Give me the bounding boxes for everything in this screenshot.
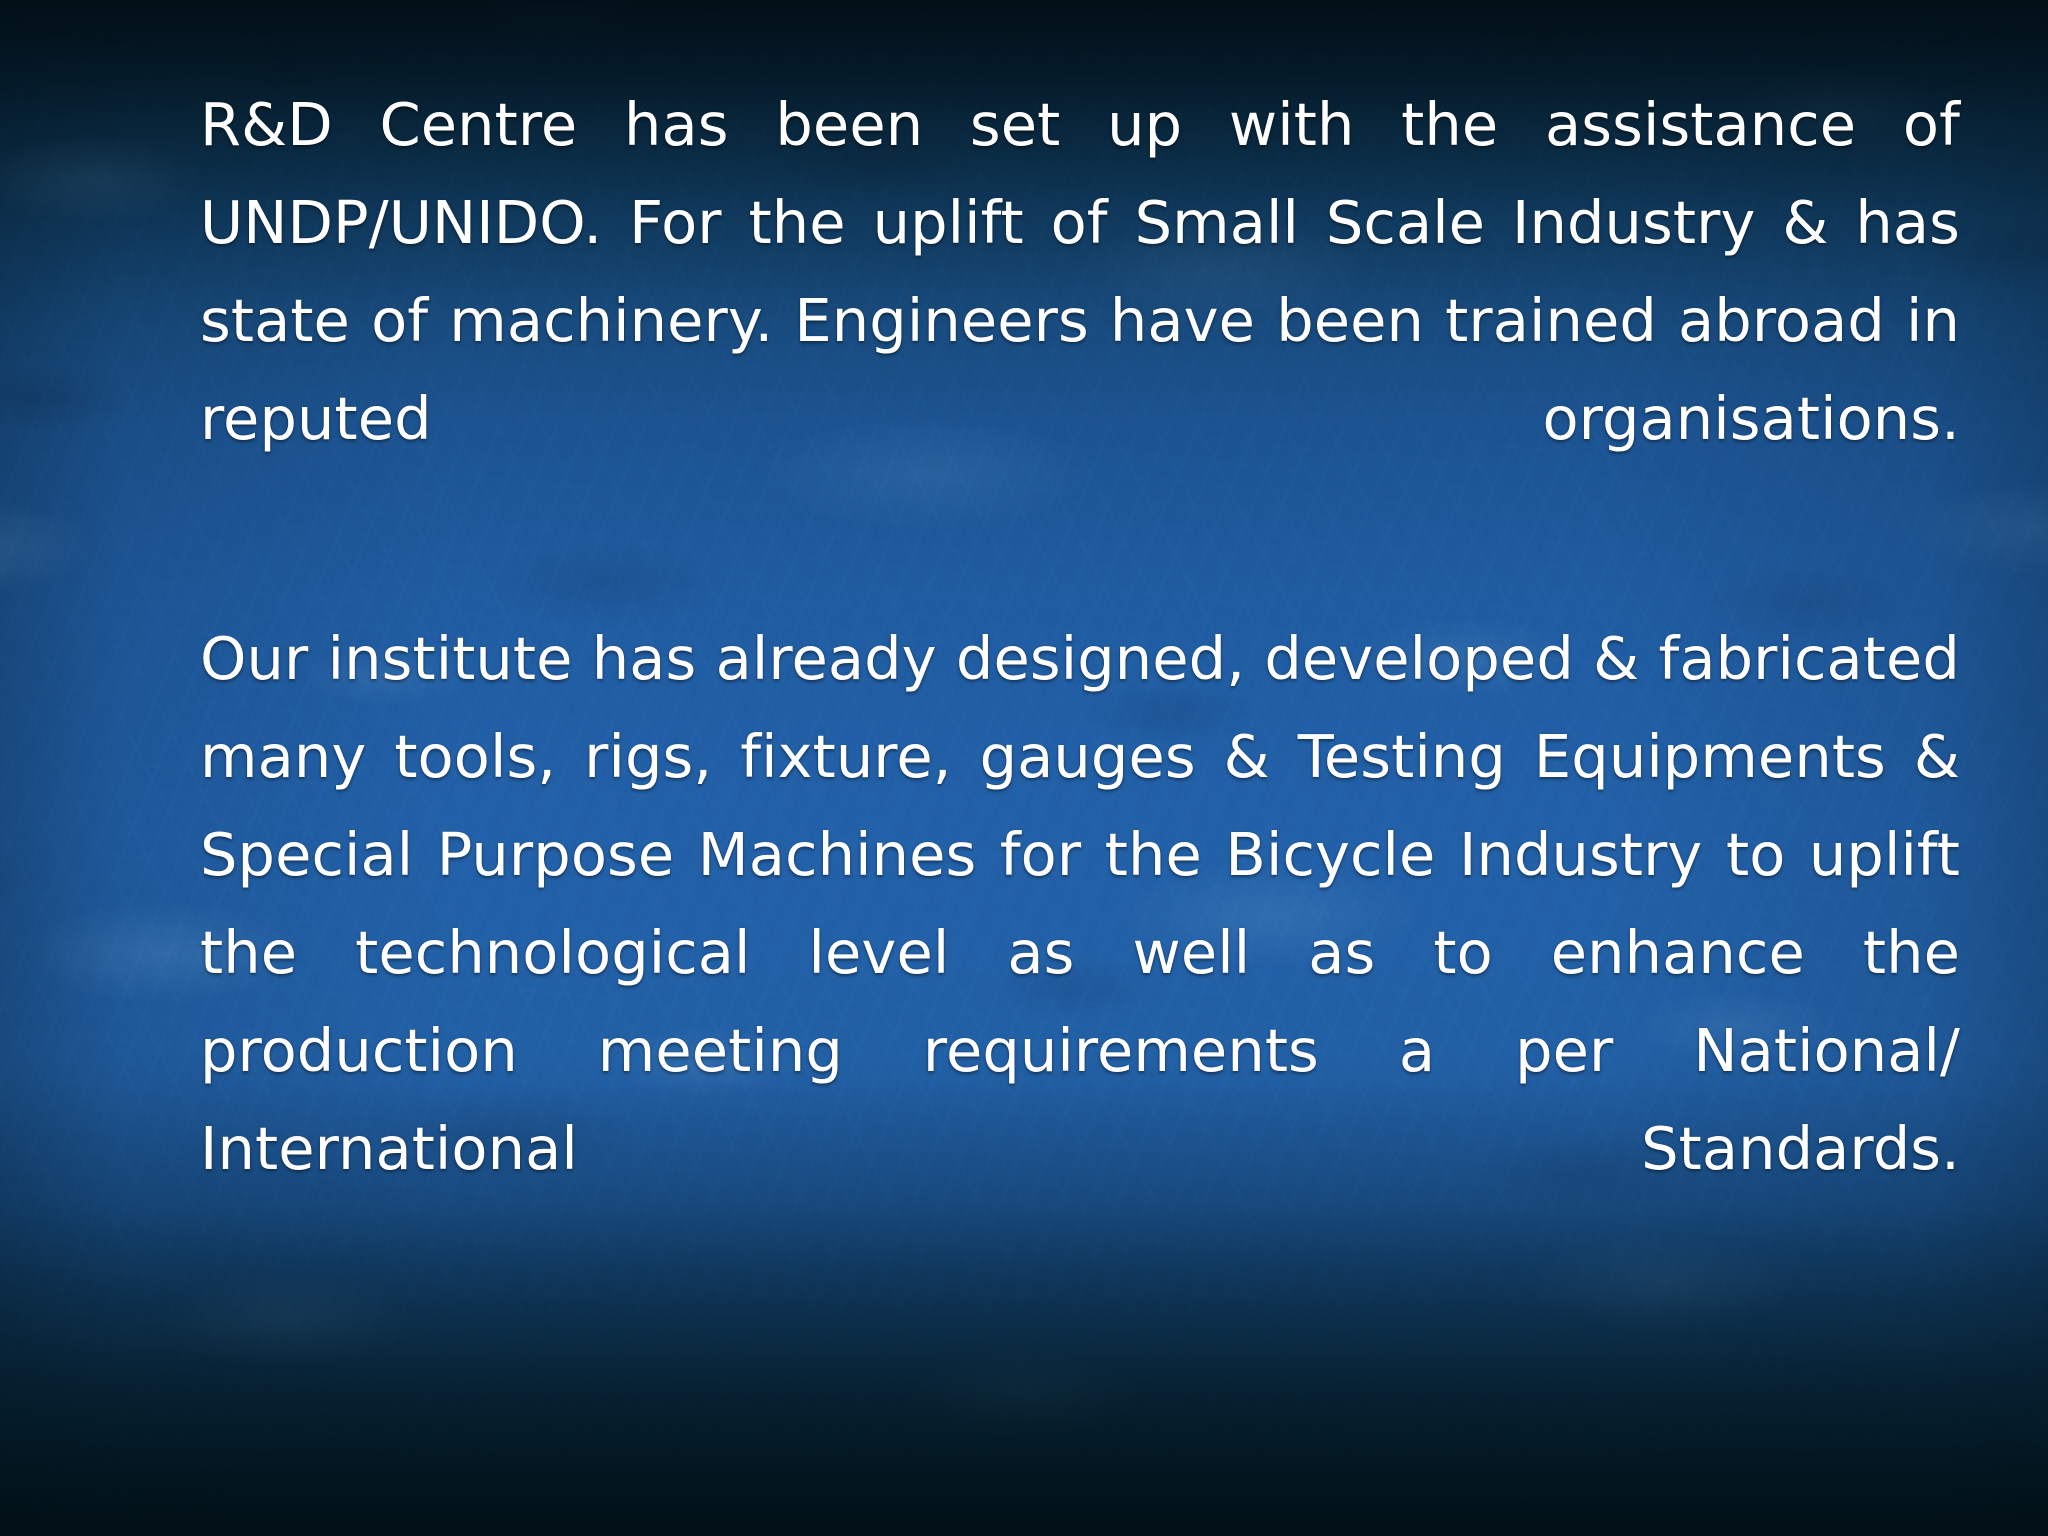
- presentation-slide: R&D Centre has been set up with the assi…: [0, 0, 2048, 1536]
- slide-body-text: R&D Centre has been set up with the assi…: [200, 76, 1960, 1296]
- paragraph-rd-centre: R&D Centre has been set up with the assi…: [200, 76, 1960, 566]
- paragraph-our-institute: Our institute has already designed, deve…: [200, 610, 1960, 1296]
